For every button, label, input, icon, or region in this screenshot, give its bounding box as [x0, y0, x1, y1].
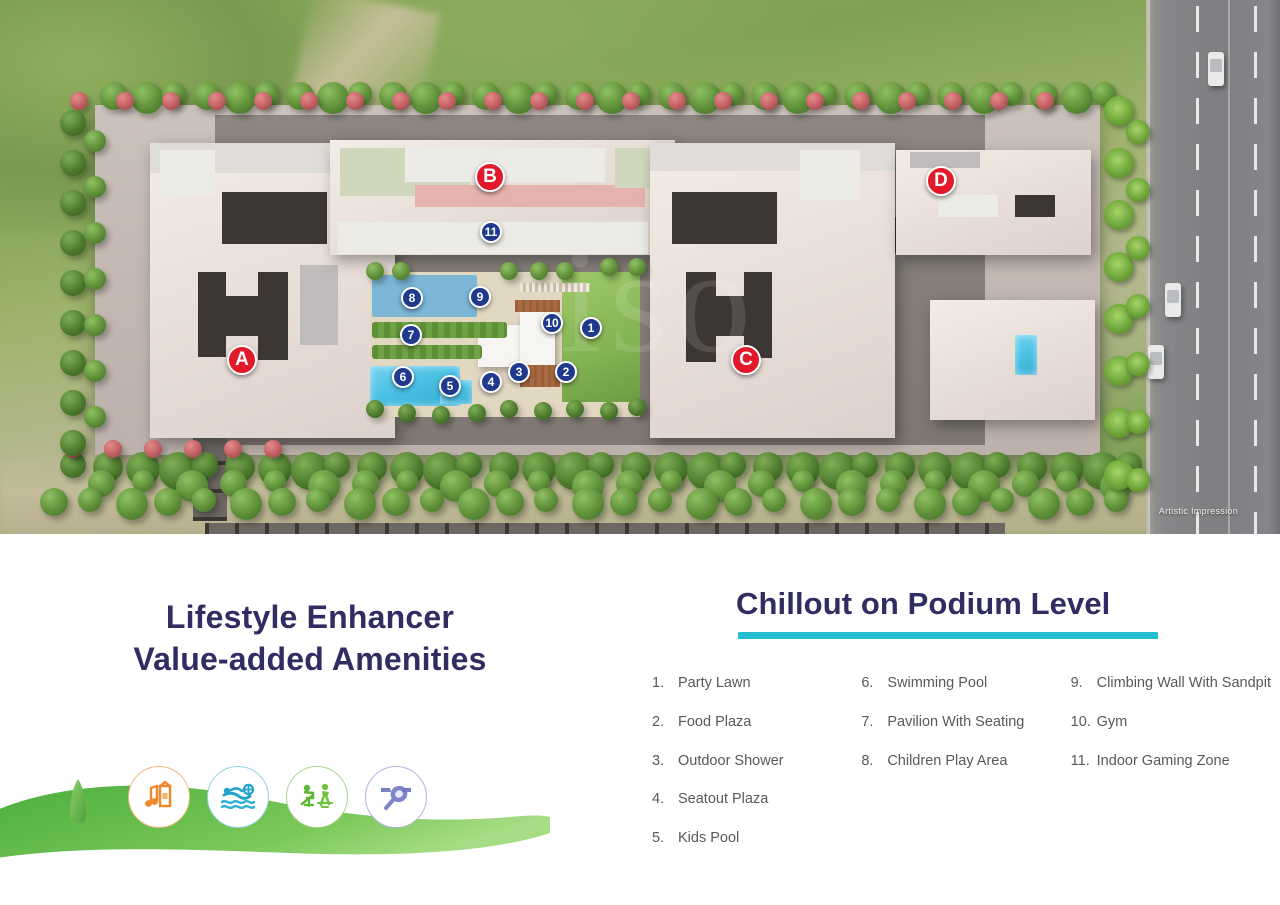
tree [566, 400, 584, 418]
tree [346, 92, 364, 110]
tree [628, 398, 646, 416]
palm-tree [1104, 148, 1134, 178]
tree [914, 488, 946, 520]
palm-tree [1126, 120, 1150, 144]
tree [84, 406, 106, 428]
lifestyle-enhancer-title: Lifestyle Enhancer Value-added Amenities [0, 596, 620, 680]
amenity-column-1: 1.Party Lawn2.Food Plaza3.Outdoor Shower… [652, 673, 861, 867]
pergola [520, 283, 590, 292]
amenity-label: Food Plaza [678, 712, 861, 734]
amenity-list-columns: 1.Party Lawn2.Food Plaza3.Outdoor Shower… [652, 673, 1280, 867]
tree [392, 92, 410, 110]
lane-dash [1196, 144, 1199, 170]
tree [714, 92, 732, 110]
hedge-row [372, 345, 482, 359]
amenity-column-3: 9.Climbing Wall With Sandpit10.Gym11.Ind… [1071, 673, 1280, 867]
lane-dash [1254, 236, 1257, 262]
lane-dash [1254, 190, 1257, 216]
lane-dash [1196, 466, 1199, 492]
lane-dash [1196, 98, 1199, 124]
amenity-list-item: 11.Indoor Gaming Zone [1071, 751, 1280, 773]
tower-c-terrace [800, 150, 860, 200]
racquet-ball-glyph [378, 782, 414, 812]
tree [410, 82, 442, 114]
tree [534, 488, 558, 512]
tree [60, 430, 86, 456]
building-marker-c[interactable]: C [731, 345, 761, 375]
lane-dash [1196, 52, 1199, 78]
parking-row-bottom [205, 523, 1005, 534]
amenities-content-section: Lifestyle Enhancer Value-added Amenities [0, 534, 1280, 905]
tree [84, 360, 106, 382]
tree [306, 488, 330, 512]
tree [952, 488, 980, 516]
tree [208, 92, 226, 110]
tree [622, 92, 640, 110]
tree [382, 488, 410, 516]
amenity-marker-1[interactable]: 1 [580, 317, 602, 339]
tower-b-roof-accent [415, 185, 645, 207]
tree [224, 440, 242, 458]
swimming-pool-icon[interactable] [207, 766, 269, 828]
lane-dash [1196, 328, 1199, 354]
chillout-podium-title: Chillout on Podium Level [736, 586, 1280, 622]
tree [131, 82, 163, 114]
amenity-list-item: 3.Outdoor Shower [652, 751, 861, 773]
amenity-label: Children Play Area [887, 751, 1070, 773]
lane-dash [1196, 420, 1199, 446]
palm-tree [1126, 468, 1150, 492]
amenity-label: Pavilion With Seating [887, 712, 1070, 734]
tree [1104, 488, 1128, 512]
palm-tree [1126, 294, 1150, 318]
amenity-label: Gym [1097, 712, 1280, 734]
tree [990, 488, 1014, 512]
lane-dash [1254, 282, 1257, 308]
car [1208, 52, 1224, 86]
tower-d-podium-block [930, 300, 1095, 420]
tree [300, 92, 318, 110]
tree [268, 488, 296, 516]
tree [686, 488, 718, 520]
tree [84, 130, 106, 152]
lane-dash [1196, 6, 1199, 32]
tree [84, 176, 106, 198]
tree [84, 268, 106, 290]
artistic-impression-note: Artistic Impression [1159, 506, 1238, 516]
tree [224, 82, 256, 114]
gym-equipment-glyph [299, 781, 335, 813]
amenity-list-item: 5.Kids Pool [652, 828, 861, 850]
amenity-number: 4. [652, 789, 678, 811]
tree [116, 488, 148, 520]
tree [84, 222, 106, 244]
amenity-label: Seatout Plaza [678, 789, 861, 811]
amenity-marker-9[interactable]: 9 [469, 286, 491, 308]
amenity-list-item: 8.Children Play Area [861, 751, 1070, 773]
palm-tree [1104, 96, 1134, 126]
tower-a-shaft [226, 296, 260, 336]
tree [1028, 488, 1060, 520]
tree [78, 488, 102, 512]
lane-line [1228, 0, 1230, 534]
tree [806, 92, 824, 110]
amenity-marker-2[interactable]: 2 [555, 361, 577, 383]
amenity-label: Outdoor Shower [678, 751, 861, 773]
amenity-label: Climbing Wall With Sandpit [1097, 673, 1280, 695]
tree [1066, 488, 1094, 516]
tree [70, 92, 88, 110]
amenity-marker-11[interactable]: 11 [480, 221, 502, 243]
tree [60, 230, 86, 256]
amenity-list-item: 2.Food Plaza [652, 712, 861, 734]
tree [990, 92, 1008, 110]
amenity-number: 1. [652, 673, 678, 695]
palm-tree [1126, 352, 1150, 376]
tree [468, 404, 486, 422]
left-panel: Lifestyle Enhancer Value-added Amenities [0, 596, 620, 680]
tower-c-shaft [716, 296, 748, 336]
amenity-number: 10. [1071, 712, 1097, 734]
tree [60, 390, 86, 416]
tree [398, 404, 416, 422]
amenity-number: 8. [861, 751, 887, 773]
amenity-marker-8[interactable]: 8 [401, 287, 423, 309]
amenity-number: 9. [1071, 673, 1097, 695]
tree [84, 314, 106, 336]
amenity-number: 3. [652, 751, 678, 773]
tree [944, 92, 962, 110]
hedge-row [372, 322, 507, 338]
title-underline-rule [738, 632, 1158, 639]
tree [392, 262, 410, 280]
music-note-house-glyph [142, 780, 176, 814]
car [1148, 345, 1164, 379]
tree [344, 488, 376, 520]
tree [530, 262, 548, 280]
lane-dash [1254, 328, 1257, 354]
swimmer-glyph [220, 781, 256, 813]
palm-tree [1126, 178, 1150, 202]
tree [760, 92, 778, 110]
tree [496, 488, 524, 516]
car [1165, 283, 1181, 317]
building-marker-d[interactable]: D [926, 166, 956, 196]
amenity-label: Kids Pool [678, 828, 861, 850]
tower-c-wing [686, 272, 716, 362]
amenity-marker-5[interactable]: 5 [439, 375, 461, 397]
wood-deck [515, 300, 560, 312]
tower-d-core [1015, 195, 1055, 217]
tree [484, 92, 502, 110]
tree [1061, 82, 1093, 114]
tree [420, 488, 444, 512]
amenity-list-item: 9.Climbing Wall With Sandpit [1071, 673, 1280, 695]
tower-d-plunge-pool [1015, 335, 1037, 375]
tree [724, 488, 752, 516]
palm-tree [1104, 200, 1134, 230]
tree [500, 400, 518, 418]
palm-tree [1126, 236, 1150, 260]
amenity-marker-4[interactable]: 4 [480, 371, 502, 393]
tree [800, 488, 832, 520]
tower-b-roof [405, 148, 605, 182]
tree [762, 488, 786, 512]
gym-fitness-icon[interactable] [286, 766, 348, 828]
lane-dash [1254, 420, 1257, 446]
tree [40, 488, 68, 516]
tree [838, 488, 866, 516]
building-marker-a[interactable]: A [227, 345, 257, 375]
tree [162, 92, 180, 110]
tree [852, 92, 870, 110]
amenity-label: Indoor Gaming Zone [1097, 751, 1280, 773]
amenity-list-item: 1.Party Lawn [652, 673, 861, 695]
amenity-marker-6[interactable]: 6 [392, 366, 414, 388]
amenity-icon-row [128, 766, 427, 828]
tree [60, 350, 86, 376]
tree [366, 400, 384, 418]
tree [500, 262, 518, 280]
amenity-number: 6. [861, 673, 887, 695]
lane-dash [1196, 236, 1199, 262]
amenity-marker-10[interactable]: 10 [541, 312, 563, 334]
site-plan-aerial-view: iso ABCD1234567891011 Artistic Impressio… [0, 0, 1280, 534]
tree [458, 488, 490, 520]
lane-dash [1254, 6, 1257, 32]
tree [184, 440, 202, 458]
tree [192, 488, 216, 512]
tree [60, 190, 86, 216]
tree [116, 92, 134, 110]
amenity-list-item: 10.Gym [1071, 712, 1280, 734]
tower-d-terrace [938, 195, 998, 217]
tree [898, 92, 916, 110]
tree [432, 406, 450, 424]
tower-a-annex [300, 265, 338, 345]
tower-a-terrace [160, 150, 215, 195]
tree [254, 92, 272, 110]
tree [60, 110, 86, 136]
amenity-number: 7. [861, 712, 887, 734]
tree [154, 488, 182, 516]
tree [576, 92, 594, 110]
title-line-1: Lifestyle Enhancer [0, 596, 620, 638]
right-panel: Chillout on Podium Level 1.Party Lawn2.F… [640, 586, 1280, 867]
tree [876, 488, 900, 512]
lane-dash [1254, 52, 1257, 78]
tree [668, 92, 686, 110]
lane-dash [1254, 466, 1257, 492]
music-entertainment-icon[interactable] [128, 766, 190, 828]
tree [144, 440, 162, 458]
tree [648, 488, 672, 512]
tree [264, 440, 282, 458]
lane-dash [1254, 144, 1257, 170]
lane-dash [1254, 98, 1257, 124]
palm-tree [1126, 410, 1150, 434]
amenity-number: 11. [1071, 751, 1097, 773]
amenity-label: Party Lawn [678, 673, 861, 695]
tower-a-wing [258, 272, 288, 360]
tower-a-core [222, 192, 327, 244]
tree [600, 258, 618, 276]
amenity-number: 2. [652, 712, 678, 734]
amenity-column-2: 6.Swimming Pool7.Pavilion With Seating8.… [861, 673, 1070, 867]
indoor-games-icon[interactable] [365, 766, 427, 828]
amenity-list-item: 7.Pavilion With Seating [861, 712, 1070, 734]
amenity-number: 5. [652, 828, 678, 850]
tree [317, 82, 349, 114]
building-marker-b[interactable]: B [475, 162, 505, 192]
tree [600, 402, 618, 420]
amenity-label: Swimming Pool [887, 673, 1070, 695]
lane-dash [1196, 374, 1199, 400]
lane-dash [1196, 190, 1199, 216]
amenity-marker-3[interactable]: 3 [508, 361, 530, 383]
tower-c-core [672, 192, 777, 244]
lane-dash [1196, 282, 1199, 308]
children-play-area [372, 275, 477, 317]
title-line-2: Value-added Amenities [0, 638, 620, 680]
tree [556, 262, 574, 280]
tree [572, 488, 604, 520]
lane-dash [1254, 512, 1257, 534]
tree [104, 440, 122, 458]
tower-a-wing [198, 272, 226, 357]
tree [366, 262, 384, 280]
amenity-marker-7[interactable]: 7 [400, 324, 422, 346]
tree [628, 258, 646, 276]
amenity-list-item: 4.Seatout Plaza [652, 789, 861, 811]
tree [530, 92, 548, 110]
tree [610, 488, 638, 516]
lane-dash [1254, 374, 1257, 400]
tree [230, 488, 262, 520]
tree [1036, 92, 1054, 110]
tree [534, 402, 552, 420]
amenity-list-item: 6.Swimming Pool [861, 673, 1070, 695]
tree [60, 270, 86, 296]
tree [60, 150, 86, 176]
tree [60, 310, 86, 336]
tree [438, 92, 456, 110]
